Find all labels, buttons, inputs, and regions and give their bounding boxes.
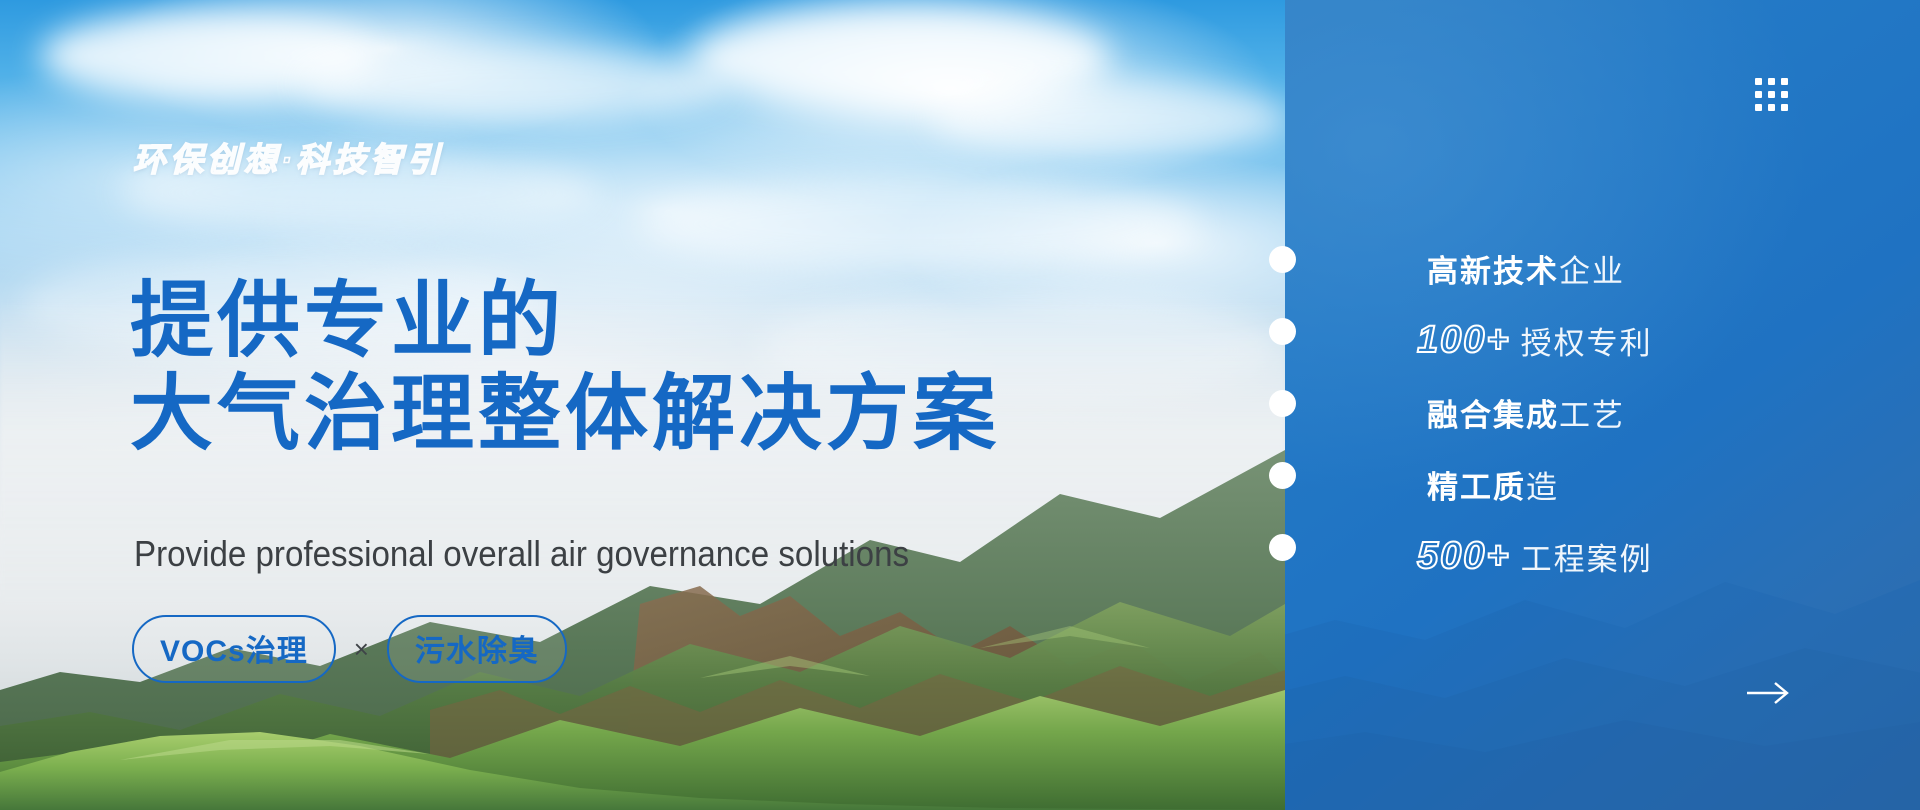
feature-light-text: 工程案例: [1521, 534, 1653, 579]
grid-icon[interactable]: [1755, 78, 1788, 111]
feature-light-text: 工艺: [1559, 390, 1625, 435]
feature-strong-text: 精工质: [1427, 462, 1526, 507]
next-slide-button[interactable]: [1740, 673, 1796, 713]
grid-dot: [1781, 78, 1788, 85]
tagline: 环保创想·科技智引: [133, 133, 444, 181]
feature-item[interactable]: 融合集成 工艺: [1417, 376, 1887, 448]
feature-item[interactable]: 高新技术 企业: [1417, 232, 1887, 304]
tag-pill-odor[interactable]: 污水除臭: [387, 615, 567, 683]
hero-content: 环保创想·科技智引 提供专业的 大气治理整体解决方案 Provide profe…: [0, 0, 1285, 810]
headline-line-1: 提供专业的: [130, 275, 1000, 368]
feature-strong-text: 融合集成: [1427, 390, 1559, 435]
feature-light-text: 授权专利: [1521, 318, 1653, 363]
feature-list: 高新技术 企业 100+ 授权专利 融合集成 工艺 精工质 造 500+: [1417, 232, 1887, 592]
grid-dot: [1755, 104, 1762, 111]
grid-dot: [1781, 91, 1788, 98]
feature-item[interactable]: 精工质 造: [1417, 448, 1887, 520]
headline-line-2: 大气治理整体解决方案: [130, 368, 1000, 461]
pill-separator: ×: [354, 634, 369, 665]
grid-dot: [1768, 78, 1775, 85]
feature-light-text: 造: [1526, 462, 1559, 507]
feature-item[interactable]: 100+ 授权专利: [1417, 304, 1887, 376]
page-title: 提供专业的 大气治理整体解决方案: [130, 275, 1000, 461]
grid-dot: [1781, 104, 1788, 111]
feature-number: 100+: [1417, 321, 1511, 359]
feature-light-text: 企业: [1559, 246, 1625, 291]
grid-dot: [1755, 91, 1762, 98]
grid-dot: [1755, 78, 1762, 85]
hero-banner: 高新技术 企业 100+ 授权专利 融合集成 工艺 精工质 造 500+: [0, 0, 1920, 810]
arrow-right-icon: [1745, 680, 1791, 706]
feature-strong-text: 高新技术: [1427, 246, 1559, 291]
grid-dot: [1768, 91, 1775, 98]
tag-pill-group: VOCs治理 × 污水除臭: [132, 615, 567, 683]
tag-pill-vocs[interactable]: VOCs治理: [132, 615, 336, 683]
grid-dot: [1768, 104, 1775, 111]
subtitle: Provide professional overall air governa…: [134, 533, 909, 575]
right-info-panel: 高新技术 企业 100+ 授权专利 融合集成 工艺 精工质 造 500+: [1285, 0, 1920, 810]
feature-item[interactable]: 500+ 工程案例: [1417, 520, 1887, 592]
feature-number: 500+: [1417, 537, 1511, 575]
